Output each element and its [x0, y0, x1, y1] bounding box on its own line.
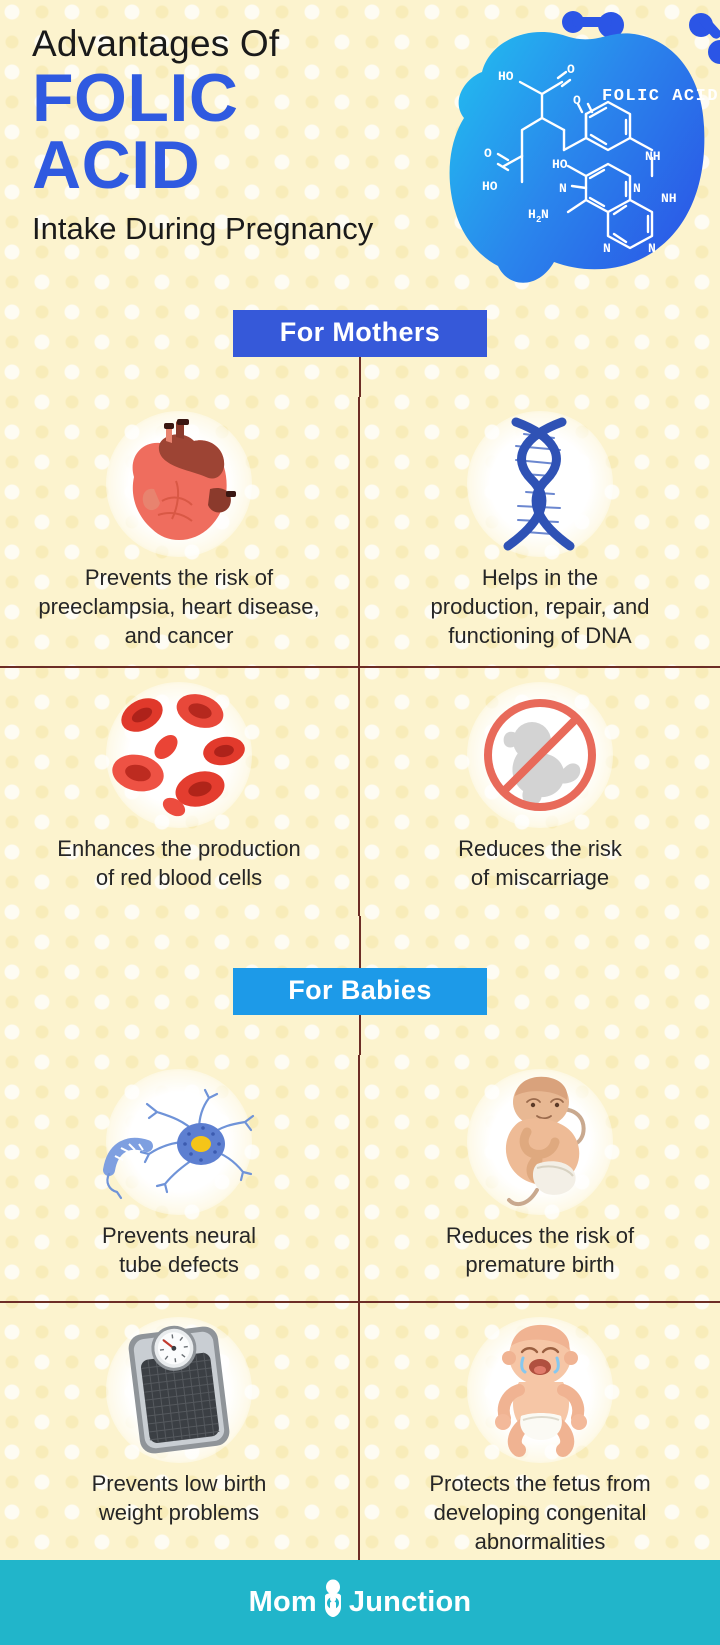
benefit-cell-neural-tube: Prevents neural tube defects	[0, 1055, 360, 1303]
benefit-text: Protects the fetus from developing conge…	[429, 1469, 650, 1556]
svg-text:HO: HO	[482, 179, 498, 194]
svg-text:O: O	[484, 146, 492, 161]
svg-text:O: O	[573, 93, 581, 108]
benefit-text: Reduces the risk of miscarriage	[458, 834, 622, 892]
section-banner-babies: For Babies	[233, 968, 487, 1015]
benefit-text: Reduces the risk of premature birth	[446, 1221, 634, 1279]
svg-text:N: N	[633, 181, 641, 196]
svg-text:NH: NH	[661, 191, 677, 206]
mother-and-baby-icon	[320, 1579, 346, 1622]
benefit-text: Helps in the production, repair, and fun…	[431, 563, 650, 650]
divider-above-babies-grid	[0, 1015, 720, 1055]
divider-above-mothers-grid	[0, 357, 720, 397]
benefit-cell-miscarriage: Reduces the risk of miscarriage	[360, 668, 720, 916]
babies-benefit-grid: Prevents neural tube defects	[0, 1055, 720, 1572]
section-banner-babies-wrap: For Babies	[0, 968, 720, 1015]
anatomical-heart-icon	[99, 409, 259, 559]
weighing-scale-icon	[99, 1315, 259, 1465]
benefit-cell-dna: Helps in the production, repair, and fun…	[360, 397, 720, 668]
svg-text:HO: HO	[552, 157, 568, 172]
benefit-cell-preeclampsia: Prevents the risk of preeclampsia, heart…	[0, 397, 360, 668]
momjunction-logo[interactable]: Mom Junction	[249, 1579, 472, 1627]
molecule-title-label: FOLIC ACID	[602, 87, 719, 106]
svg-text:H: H	[528, 207, 536, 222]
mothers-benefit-grid: Prevents the risk of preeclampsia, heart…	[0, 397, 720, 916]
fetus-umbilical-icon	[460, 1067, 620, 1217]
header: HO O O HO NH O HO N N N NH N H 2 N FOLIC…	[0, 0, 720, 310]
benefit-cell-premature-birth: Reduces the risk of premature birth	[360, 1055, 720, 1303]
divider-below-mothers-grid	[0, 916, 720, 968]
benefit-text: Enhances the production of red blood cel…	[57, 834, 300, 892]
folic-acid-molecule-illustration: HO O O HO NH O HO N N N NH N H 2 N FOLIC…	[420, 0, 720, 300]
benefit-cell-congenital-abnormalities: Protects the fetus from developing conge…	[360, 1303, 720, 1572]
svg-text:N: N	[559, 181, 567, 196]
svg-text:N: N	[541, 207, 549, 222]
svg-text:HO: HO	[498, 69, 514, 84]
header-title-acid: ACID	[32, 133, 432, 198]
logo-text-mom: Mom	[249, 1586, 317, 1619]
no-miscarriage-icon	[460, 680, 620, 830]
benefit-cell-red-blood-cells: Enhances the production of red blood cel…	[0, 668, 360, 916]
benefit-text: Prevents low birth weight problems	[92, 1469, 267, 1527]
fetus-shape	[504, 722, 581, 805]
svg-text:N: N	[648, 241, 656, 256]
infographic-root: HO O O HO NH O HO N N N NH N H 2 N FOLIC…	[0, 0, 720, 1645]
header-subtitle: Intake During Pregnancy	[32, 210, 432, 247]
benefit-text: Prevents neural tube defects	[102, 1221, 256, 1279]
svg-text:NH: NH	[645, 149, 661, 164]
section-banner-mothers: For Mothers	[233, 310, 487, 357]
red-blood-cells-icon	[99, 680, 259, 830]
dna-helix-icon	[460, 409, 620, 559]
benefit-text: Prevents the risk of preeclampsia, heart…	[38, 563, 319, 650]
footer-bar: Mom Junction	[0, 1560, 720, 1645]
logo-text-junction: Junction	[349, 1586, 471, 1619]
header-text-block: Advantages Of FOLIC ACID Intake During P…	[32, 22, 432, 247]
benefit-cell-low-birth-weight: Prevents low birth weight problems	[0, 1303, 360, 1572]
svg-text:N: N	[603, 241, 611, 256]
header-title-folic: FOLIC	[32, 66, 432, 131]
svg-text:O: O	[567, 62, 575, 77]
section-banner-mothers-wrap: For Mothers	[0, 310, 720, 357]
neuron-nerve-cell-icon	[99, 1067, 259, 1217]
crying-baby-icon	[460, 1315, 620, 1465]
